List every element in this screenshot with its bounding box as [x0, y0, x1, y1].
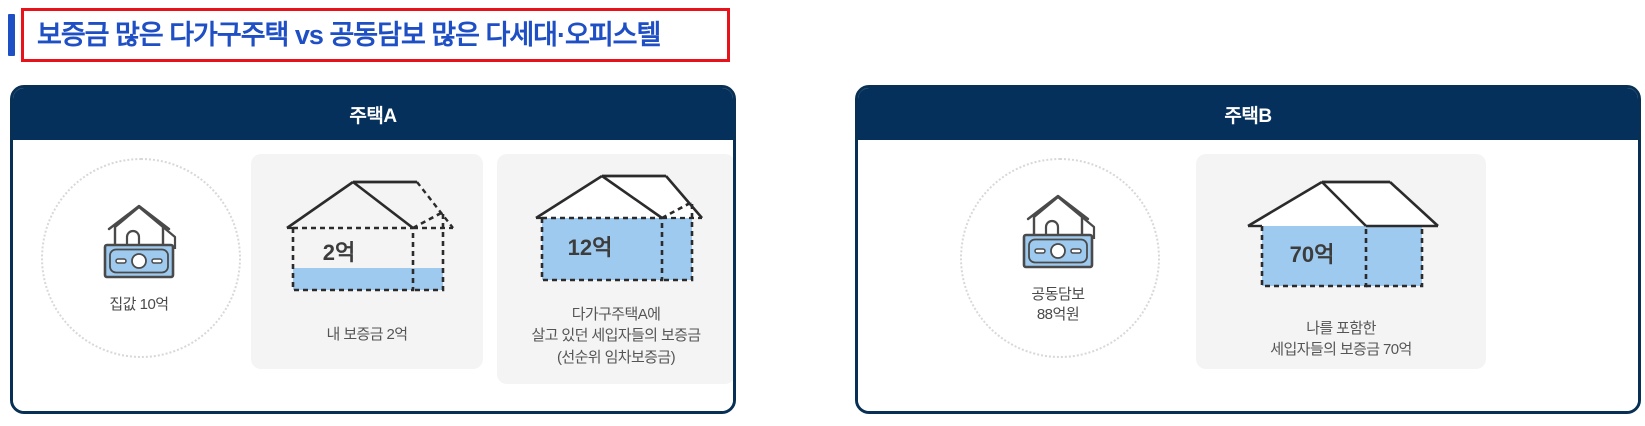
- page-title: 보증금 많은 다가구주택 vs 공동담보 많은 다세대·오피스텔: [24, 22, 660, 49]
- house-amount-label-70eok: 70억: [1290, 242, 1335, 267]
- panel-tenants-deposit-b: 70억 나를 포함한 세입자들의 보증금 70억: [1196, 154, 1486, 369]
- house-diagram-12eok: 12억: [516, 170, 716, 290]
- card-house-b: 주택B: [855, 85, 1641, 414]
- card-header-house-b: 주택B: [858, 88, 1638, 140]
- card-title-house-a: 주택A: [349, 101, 396, 128]
- house-value-label-a: 집값 10억: [109, 295, 168, 315]
- panel-caption-tenants-b: 나를 포함한 세입자들의 보증금 70억: [1270, 318, 1411, 361]
- house-diagram-2eok: 2억: [267, 172, 467, 300]
- card-body-house-a: 집값 10억: [13, 140, 733, 414]
- card-header-house-a: 주택A: [13, 88, 733, 140]
- panel-caption-my-deposit: 내 보증금 2억: [327, 324, 408, 345]
- panel-caption-prior-tenants: 다가구주택A에 살고 있던 세입자들의 보증금 (선순위 임차보증금): [531, 304, 700, 368]
- card-title-house-b: 주택B: [1224, 101, 1271, 128]
- joint-collateral-label-b: 공동담보 88억원: [1031, 285, 1084, 325]
- house-value-circle-a: 집값 10억: [41, 158, 237, 354]
- card-house-a: 주택A: [10, 85, 736, 414]
- house-diagram-70eok: 70억: [1226, 174, 1456, 296]
- panel-my-deposit: 2억 내 보증금 2억: [251, 154, 483, 369]
- house-amount-label-2eok: 2억: [323, 240, 355, 265]
- card-body-house-b: 공동담보 88억원: [858, 140, 1638, 414]
- money-house-icon: [1012, 187, 1104, 278]
- title-accent-bar: [8, 14, 15, 56]
- house-amount-label-12eok: 12억: [568, 235, 613, 260]
- joint-collateral-circle-b: 공동담보 88억원: [960, 158, 1156, 354]
- panel-prior-tenants-deposit: 12억 다가구주택A에 살고 있던 세입자들의 보증금 (선순위 임차보증금): [497, 154, 735, 384]
- title-box: 보증금 많은 다가구주택 vs 공동담보 많은 다세대·오피스텔: [21, 8, 730, 62]
- money-house-icon: [93, 197, 185, 288]
- page-title-bar: 보증금 많은 다가구주택 vs 공동담보 많은 다세대·오피스텔: [0, 0, 1645, 72]
